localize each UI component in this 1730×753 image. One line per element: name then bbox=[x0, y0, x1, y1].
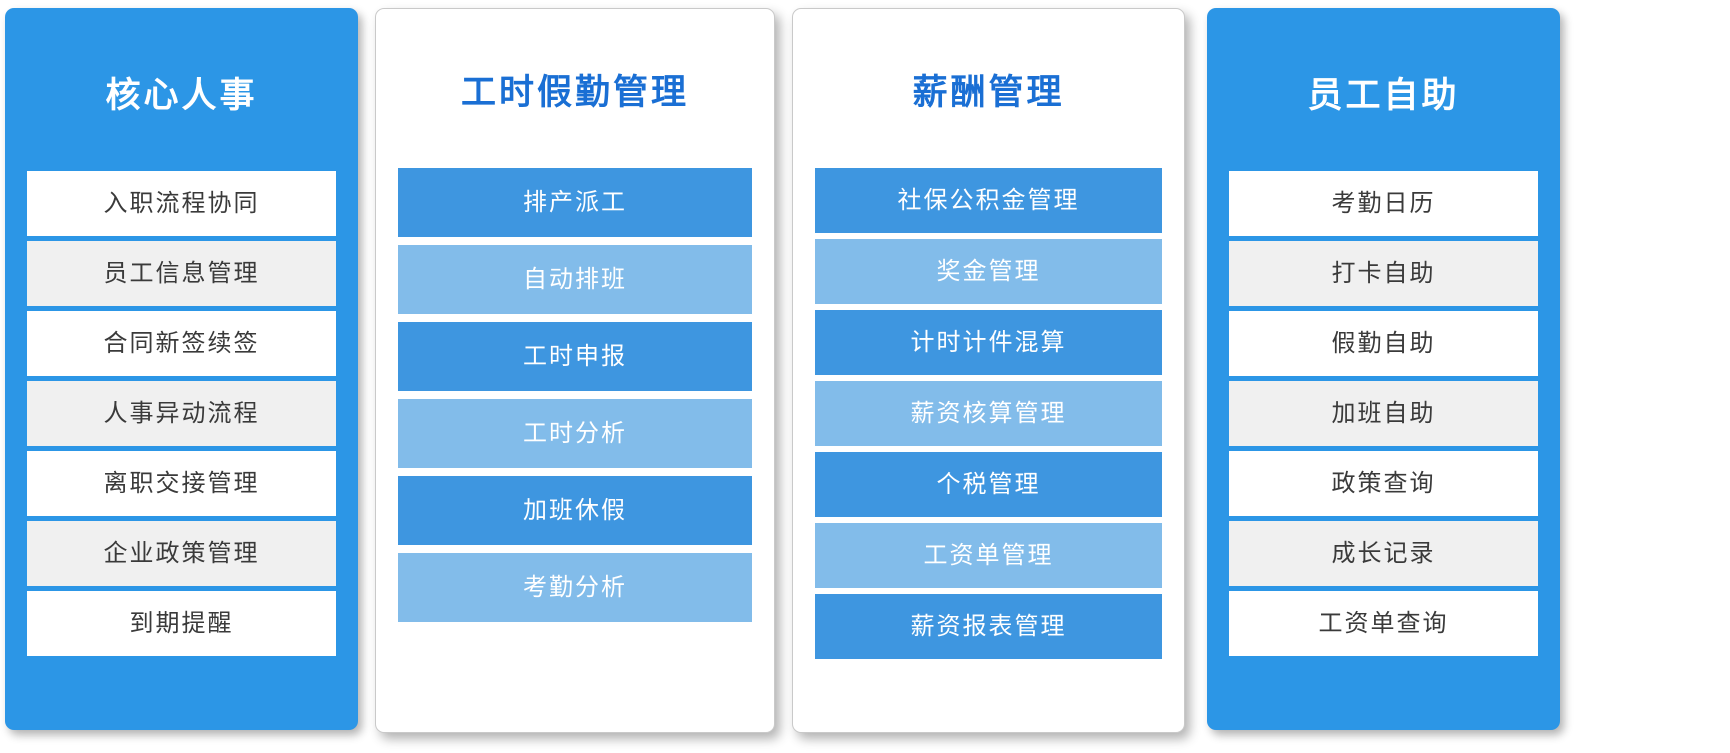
list-item[interactable]: 入职流程协同 bbox=[27, 171, 336, 236]
card-title-core-hr: 核心人事 bbox=[27, 8, 336, 171]
list-item[interactable]: 合同新签续签 bbox=[27, 311, 336, 376]
list-item[interactable]: 考勤分析 bbox=[398, 553, 752, 622]
list-item[interactable]: 成长记录 bbox=[1229, 521, 1538, 586]
list-item[interactable]: 工资单管理 bbox=[815, 523, 1162, 588]
list-item[interactable]: 加班自助 bbox=[1229, 381, 1538, 446]
item-list-payroll: 社保公积金管理 奖金管理 计时计件混算 薪资核算管理 个税管理 工资单管理 薪资… bbox=[815, 168, 1162, 659]
list-item[interactable]: 计时计件混算 bbox=[815, 310, 1162, 375]
module-overview-board: 核心人事 入职流程协同 员工信息管理 合同新签续签 人事异动流程 离职交接管理 … bbox=[0, 0, 1730, 753]
item-list-core-hr: 入职流程协同 员工信息管理 合同新签续签 人事异动流程 离职交接管理 企业政策管… bbox=[27, 171, 336, 656]
list-item[interactable]: 排产派工 bbox=[398, 168, 752, 237]
item-list-worktime-attendance: 排产派工 自动排班 工时申报 工时分析 加班休假 考勤分析 bbox=[398, 168, 752, 622]
list-item[interactable]: 薪资核算管理 bbox=[815, 381, 1162, 446]
card-title-worktime-attendance: 工时假勤管理 bbox=[398, 9, 752, 168]
list-item[interactable]: 个税管理 bbox=[815, 452, 1162, 517]
list-item[interactable]: 企业政策管理 bbox=[27, 521, 336, 586]
module-card-payroll[interactable]: 薪酬管理 社保公积金管理 奖金管理 计时计件混算 薪资核算管理 个税管理 工资单… bbox=[792, 8, 1185, 733]
list-item[interactable]: 加班休假 bbox=[398, 476, 752, 545]
list-item[interactable]: 到期提醒 bbox=[27, 591, 336, 656]
list-item[interactable]: 政策查询 bbox=[1229, 451, 1538, 516]
list-item[interactable]: 打卡自助 bbox=[1229, 241, 1538, 306]
card-title-employee-self-service: 员工自助 bbox=[1229, 8, 1538, 171]
list-item[interactable]: 自动排班 bbox=[398, 245, 752, 314]
list-item[interactable]: 奖金管理 bbox=[815, 239, 1162, 304]
list-item[interactable]: 社保公积金管理 bbox=[815, 168, 1162, 233]
list-item[interactable]: 考勤日历 bbox=[1229, 171, 1538, 236]
module-card-worktime-attendance[interactable]: 工时假勤管理 排产派工 自动排班 工时申报 工时分析 加班休假 考勤分析 bbox=[375, 8, 775, 733]
module-card-employee-self-service[interactable]: 员工自助 考勤日历 打卡自助 假勤自助 加班自助 政策查询 成长记录 工资单查询 bbox=[1207, 8, 1560, 730]
list-item[interactable]: 工时分析 bbox=[398, 399, 752, 468]
item-list-employee-self-service: 考勤日历 打卡自助 假勤自助 加班自助 政策查询 成长记录 工资单查询 bbox=[1229, 171, 1538, 656]
list-item[interactable]: 工资单查询 bbox=[1229, 591, 1538, 656]
module-card-core-hr[interactable]: 核心人事 入职流程协同 员工信息管理 合同新签续签 人事异动流程 离职交接管理 … bbox=[5, 8, 358, 730]
list-item[interactable]: 薪资报表管理 bbox=[815, 594, 1162, 659]
list-item[interactable]: 人事异动流程 bbox=[27, 381, 336, 446]
list-item[interactable]: 假勤自助 bbox=[1229, 311, 1538, 376]
list-item[interactable]: 离职交接管理 bbox=[27, 451, 336, 516]
list-item[interactable]: 工时申报 bbox=[398, 322, 752, 391]
list-item[interactable]: 员工信息管理 bbox=[27, 241, 336, 306]
card-title-payroll: 薪酬管理 bbox=[815, 9, 1162, 168]
